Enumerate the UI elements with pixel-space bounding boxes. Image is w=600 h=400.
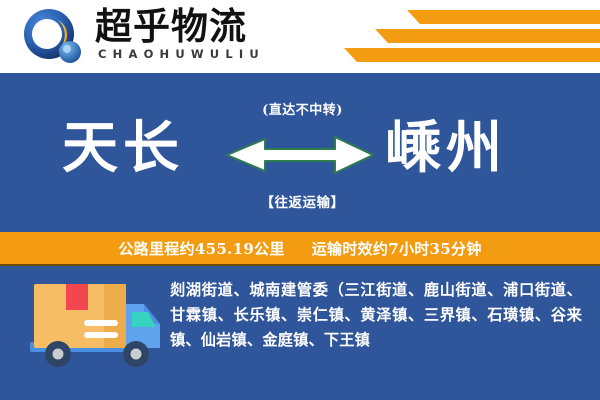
- round-trip-note: 【往返运输】: [225, 191, 380, 211]
- double-headed-arrow-icon: [225, 135, 375, 175]
- route-info-bar: 公路里程约455.19公里 运输时效约7小时35分钟: [0, 232, 600, 266]
- duration-value: 运输时效约7小时35分钟: [312, 240, 482, 258]
- route-info-text: 公路里程约455.19公里 运输时效约7小时35分钟: [118, 238, 481, 259]
- header-bar: 超乎物流 CHAOHUWULIU: [0, 0, 600, 73]
- logistics-route-banner: 超乎物流 CHAOHUWULIU 天长 (直达不中转) 【往返运输】 嵊州 公路…: [0, 0, 600, 400]
- route-arrow: [225, 135, 375, 175]
- circular-crescent-logo-icon: [22, 7, 86, 67]
- brand-text-block: 超乎物流 CHAOHUWULIU: [95, 6, 305, 61]
- coverage-section: 剡湖街道、城南建管委（三江街道、鹿山街道、浦口街道、甘霖镇、长乐镇、崇仁镇、黄泽…: [0, 266, 600, 400]
- stripe-2: [388, 29, 600, 43]
- origin-city: 天长: [62, 117, 184, 179]
- direct-shipping-note: (直达不中转): [225, 99, 380, 118]
- brand-name-cn: 超乎物流: [95, 6, 305, 46]
- route-middle-block: (直达不中转) 【往返运输】: [225, 99, 380, 211]
- company-logo: [22, 7, 86, 67]
- brand-name-pinyin: CHAOHUWULIU: [95, 47, 305, 61]
- stripe-1: [420, 10, 600, 24]
- decorative-stripes: [290, 8, 600, 70]
- delivery-truck-illustration: [26, 278, 166, 378]
- distance-value: 公路里程约455.19公里: [118, 240, 284, 258]
- route-section: 天长 (直达不中转) 【往返运输】 嵊州: [0, 73, 600, 232]
- destination-city: 嵊州: [385, 117, 507, 179]
- stripe-3: [357, 48, 600, 62]
- delivery-truck-icon: [26, 278, 166, 378]
- coverage-areas-text: 剡湖街道、城南建管委（三江街道、鹿山街道、浦口街道、甘霖镇、长乐镇、崇仁镇、黄泽…: [170, 278, 582, 353]
